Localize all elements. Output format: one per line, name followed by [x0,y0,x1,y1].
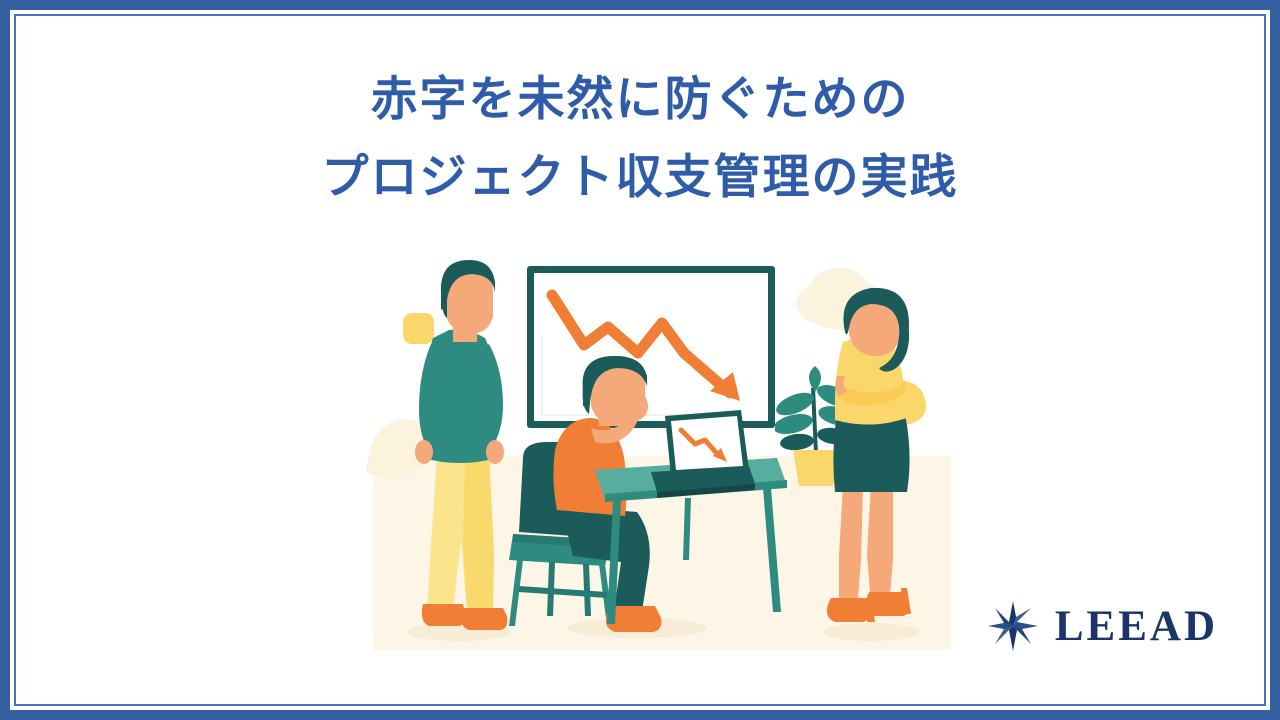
brand-logo: LEEAD [987,600,1218,652]
laptop [645,408,755,500]
page-title: 赤字を未然に防ぐための プロジェクト収支管理の実践 [16,60,1264,216]
page-title-line-1: 赤字を未然に防ぐための [16,60,1264,138]
brand-wordmark: LEEAD [1055,605,1218,648]
page-title-line-2: プロジェクト収支管理の実践 [16,138,1264,216]
slide-root: 赤字を未然に防ぐための プロジェクト収支管理の実践 [0,0,1280,720]
standing-woman-right [813,288,935,650]
hero-illustration [341,248,961,668]
slide-canvas: 赤字を未然に防ぐための プロジェクト収支管理の実践 [16,16,1264,704]
compass-star-icon [987,600,1039,652]
